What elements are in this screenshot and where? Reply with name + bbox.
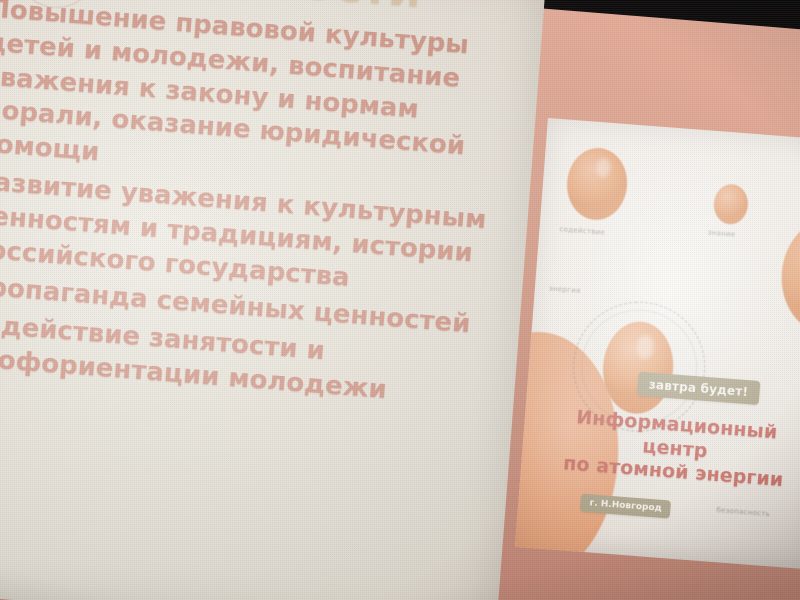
left-screen-vignette [0,0,546,600]
right-projection-screen: содействие знание энергия завтра будет! … [515,118,800,570]
left-projection-screen: молодежи НАПРАВЛЕНИЯ ДЕЯТЕЛЬНОСТИ Повыше… [0,0,546,600]
right-screen-vignette [515,118,800,570]
photo-scene: молодежи НАПРАВЛЕНИЯ ДЕЯТЕЛЬНОСТИ Повыше… [0,0,800,600]
